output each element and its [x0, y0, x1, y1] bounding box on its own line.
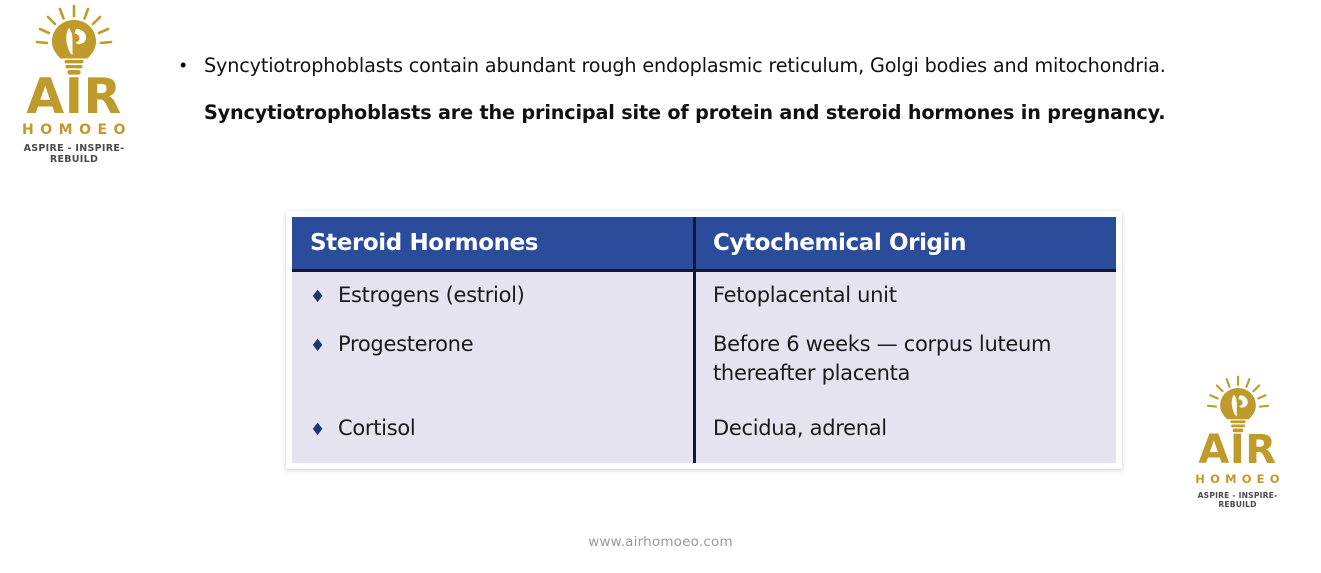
cell-hormone: ♦Cortisol: [292, 400, 695, 463]
hormone-entry: ♦Estrogens (estriol): [310, 272, 693, 321]
lightbulb-icon: [1203, 375, 1273, 435]
diamond-bullet-icon: ♦: [310, 283, 338, 312]
cell-origin: Decidua, adrenal: [695, 400, 1117, 463]
hormone-label: Progesterone: [338, 332, 473, 356]
cell-origin: Fetoplacental unit: [695, 271, 1117, 322]
diamond-bullet-icon: ♦: [310, 332, 338, 361]
brand-tagline: ASPIRE - INSPIRE- REBUILD: [4, 143, 144, 165]
brand-tagline: ASPIRE - INSPIRE- REBUILD: [1180, 491, 1295, 509]
paragraph-bold-text: Syncytiotrophoblasts are the principal s…: [204, 101, 1165, 124]
lightbulb-icon: [31, 4, 117, 78]
origin-label: Decidua, adrenal: [713, 400, 1116, 461]
bullet-point-icon: •: [172, 42, 204, 89]
steroid-hormones-table: Steroid Hormones Cytochemical Origin ♦Es…: [292, 217, 1116, 463]
paragraph-plain-text: Syncytiotrophoblasts contain abundant ro…: [204, 54, 1166, 77]
brand-name: AIR: [1180, 432, 1295, 469]
cell-origin: Before 6 weeks — corpus luteum thereafte…: [695, 321, 1117, 400]
origin-label: Before 6 weeks — corpus luteum thereafte…: [713, 321, 1116, 400]
cell-hormone: ♦Progesterone: [292, 321, 695, 400]
table-row: ♦Progesterone Before 6 weeks — corpus lu…: [292, 321, 1116, 400]
brand-logo-top: AIR HOMOEO ASPIRE - INSPIRE- REBUILD: [4, 4, 144, 165]
table-row: ♦Cortisol Decidua, adrenal: [292, 400, 1116, 463]
hormone-entry: ♦Cortisol: [310, 400, 693, 463]
table-body: ♦Estrogens (estriol) Fetoplacental unit …: [292, 271, 1116, 464]
bullet-paragraph: Syncytiotrophoblasts contain abundant ro…: [204, 42, 1232, 136]
brand-subname: HOMOEO: [4, 122, 144, 138]
table-row: ♦Estrogens (estriol) Fetoplacental unit: [292, 271, 1116, 322]
column-header-cytochemical-origin: Cytochemical Origin: [695, 217, 1117, 271]
table-header-row: Steroid Hormones Cytochemical Origin: [292, 217, 1116, 271]
hormone-label: Cortisol: [338, 416, 415, 440]
origin-label: Fetoplacental unit: [713, 272, 1116, 319]
brand-subname: HOMOEO: [1180, 472, 1295, 486]
cell-hormone: ♦Estrogens (estriol): [292, 271, 695, 322]
brand-name: AIR: [4, 74, 144, 119]
brand-logo-bottom: AIR HOMOEO ASPIRE - INSPIRE- REBUILD: [1180, 375, 1295, 509]
steroid-hormones-table-container: Steroid Hormones Cytochemical Origin ♦Es…: [286, 211, 1122, 469]
bullet-list-item: • Syncytiotrophoblasts contain abundant …: [172, 42, 1232, 136]
slide-body-text: • Syncytiotrophoblasts contain abundant …: [172, 42, 1232, 136]
column-header-steroid-hormones: Steroid Hormones: [292, 217, 695, 271]
table-header: Steroid Hormones Cytochemical Origin: [292, 217, 1116, 271]
diamond-bullet-icon: ♦: [310, 416, 338, 445]
hormone-entry: ♦Progesterone: [310, 321, 693, 373]
footer-website-url[interactable]: www.airhomoeo.com: [0, 534, 1321, 550]
hormone-label: Estrogens (estriol): [338, 283, 525, 307]
